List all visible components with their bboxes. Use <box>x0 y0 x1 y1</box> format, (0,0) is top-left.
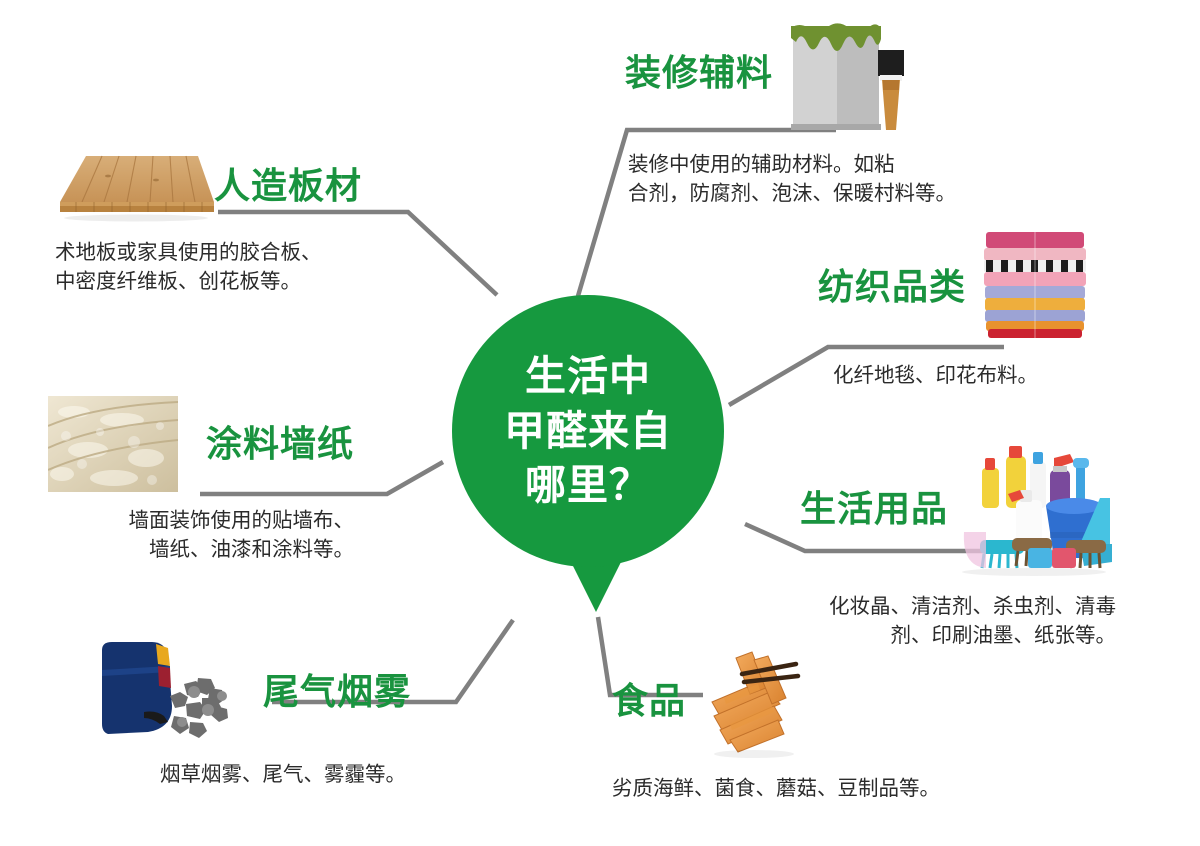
center-title-line-3: 哪里？ <box>525 458 651 513</box>
desc-line: 中密度纤维板、创花板等。 <box>55 267 362 296</box>
center-title-line-1: 生活中 <box>525 349 651 404</box>
branch-title-textiles: 纺织品类 <box>818 269 966 305</box>
center-title: 生活中 甲醛来自 哪里？ <box>452 295 724 567</box>
branch-household-products[interactable]: 生活用品 <box>800 440 1116 650</box>
branch-food[interactable]: 食品 <box>612 640 940 803</box>
infographic-canvas: 生活中 甲醛来自 哪里？ <box>0 0 1200 846</box>
branch-title-paint-wallpaper: 涂料墙纸 <box>206 426 354 462</box>
fried-food-chopsticks-icon <box>694 640 812 758</box>
branch-paint-wallpaper[interactable]: 涂料墙纸 墙面装饰使用的贴墙布、 墙纸、油漆和涂料等。 <box>48 396 354 564</box>
branch-desc-exhaust-smoke: 烟草烟雾、尾气、雾霾等。 <box>160 760 411 789</box>
branch-decoration-materials[interactable]: 装修辅料 装修中使用的辅助材料。如粘 合剂，防腐剂、泡沫、保暖村料等。 <box>625 12 956 208</box>
branch-desc-food: 劣质海鲜、菌食、蘑菇、豆制品等。 <box>612 774 940 803</box>
branch-textiles[interactable]: 纺织品类 <box>818 228 1096 390</box>
desc-line: 合剂，防腐剂、泡沫、保暖村料等。 <box>628 179 956 208</box>
wallpaper-rolls-icon <box>48 396 178 492</box>
desc-line: 化纤地毯、印花布料。 <box>833 361 1096 390</box>
desc-line: 术地板或家具使用的胶合板、 <box>55 238 362 267</box>
branch-title-artificial-board: 人造板材 <box>214 168 362 204</box>
branch-title-household-products: 生活用品 <box>800 491 948 527</box>
cleaning-supplies-icon <box>954 440 1116 576</box>
desc-line: 化妆晶、清洁剂、杀虫剂、清毒 <box>792 592 1116 621</box>
branch-desc-textiles: 化纤地毯、印花布料。 <box>833 361 1096 390</box>
desc-line: 烟草烟雾、尾气、雾霾等。 <box>160 760 411 789</box>
branch-desc-decoration-materials: 装修中使用的辅助材料。如粘 合剂，防腐剂、泡沫、保暖村料等。 <box>628 150 956 208</box>
branch-title-exhaust-smoke: 尾气烟雾 <box>263 674 411 710</box>
desc-line: 劣质海鲜、菌食、蘑菇、豆制品等。 <box>612 774 940 803</box>
folded-towels-icon <box>974 228 1096 340</box>
branch-exhaust-smoke[interactable]: 尾气烟雾 烟草烟雾、尾气、雾霾等。 <box>98 636 411 789</box>
branch-desc-artificial-board: 术地板或家具使用的胶合板、 中密度纤维板、创花板等。 <box>55 238 362 296</box>
desc-line: 装修中使用的辅助材料。如粘 <box>628 150 956 179</box>
paint-can-brush-icon <box>779 12 907 130</box>
wood-board-icon <box>46 150 214 222</box>
branch-artificial-board[interactable]: 人造板材 术地板或家具使用的胶合板、 中密度纤维板、创花板等。 <box>46 150 362 296</box>
branch-title-food: 食品 <box>612 683 686 719</box>
branch-title-decoration-materials: 装修辅料 <box>625 55 773 91</box>
car-exhaust-icon <box>98 636 253 748</box>
desc-line: 墙面装饰使用的贴墙布、 <box>126 506 354 535</box>
center-title-line-2: 甲醛来自 <box>504 404 672 459</box>
branch-desc-paint-wallpaper: 墙面装饰使用的贴墙布、 墙纸、油漆和涂料等。 <box>126 506 354 564</box>
desc-line: 墙纸、油漆和涂料等。 <box>126 535 354 564</box>
